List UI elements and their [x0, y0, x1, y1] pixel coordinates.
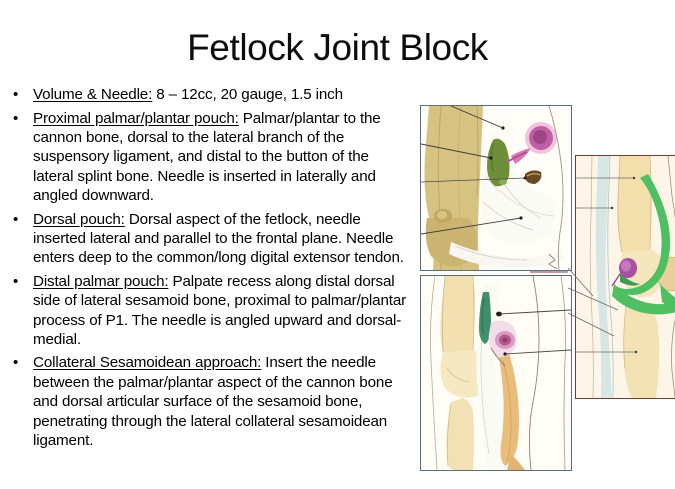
collateral-sesamoidean-ligament-illustration — [575, 155, 675, 399]
bullet-marker-icon: • — [8, 85, 33, 105]
bullet-list: • Volume & Needle: 8 – 12cc, 20 gauge, 1… — [8, 85, 412, 454]
bullet-marker-icon: • — [8, 210, 33, 230]
list-item-lead: Proximal palmar/plantar pouch: — [33, 110, 239, 127]
distal-pouch-artwork — [421, 276, 571, 470]
proximal-pouch-artwork — [421, 106, 571, 270]
bullet-marker-icon: • — [8, 272, 33, 292]
list-item: • Dorsal pouch: Dorsal aspect of the fet… — [8, 210, 412, 268]
list-item-text: Dorsal pouch: Dorsal aspect of the fetlo… — [33, 210, 412, 268]
list-item-text: Volume & Needle: 8 – 12cc, 20 gauge, 1.5… — [33, 85, 412, 104]
bullet-marker-icon: • — [8, 109, 33, 129]
list-item-detail: 8 – 12cc, 20 gauge, 1.5 inch — [152, 86, 343, 103]
list-item: • Collateral Sesamoidean approach: Inser… — [8, 353, 412, 450]
page-title: Fetlock Joint Block — [0, 26, 675, 70]
slide-canvas: Fetlock Joint Block • Volume & Needle: 8… — [0, 0, 675, 489]
list-item-text: Collateral Sesamoidean approach: Insert … — [33, 353, 412, 450]
distal-palmar-pouch-illustration — [420, 275, 572, 471]
list-item-text: Distal palmar pouch: Palpate recess alon… — [33, 272, 412, 350]
ligament-artwork — [576, 156, 675, 398]
list-item-lead: Dorsal pouch: — [33, 211, 125, 228]
list-item: • Distal palmar pouch: Palpate recess al… — [8, 272, 412, 350]
list-item-text: Proximal palmar/plantar pouch: Palmar/pl… — [33, 109, 412, 206]
list-item: • Volume & Needle: 8 – 12cc, 20 gauge, 1… — [8, 85, 412, 105]
list-item-lead: Collateral Sesamoidean approach: — [33, 354, 261, 371]
proximal-palmar-pouch-illustration — [420, 105, 572, 271]
list-item-lead: Volume & Needle: — [33, 86, 152, 103]
list-item: • Proximal palmar/plantar pouch: Palmar/… — [8, 109, 412, 206]
bullet-marker-icon: • — [8, 353, 33, 373]
anatomy-figure-group — [418, 100, 675, 475]
list-item-lead: Distal palmar pouch: — [33, 273, 168, 290]
